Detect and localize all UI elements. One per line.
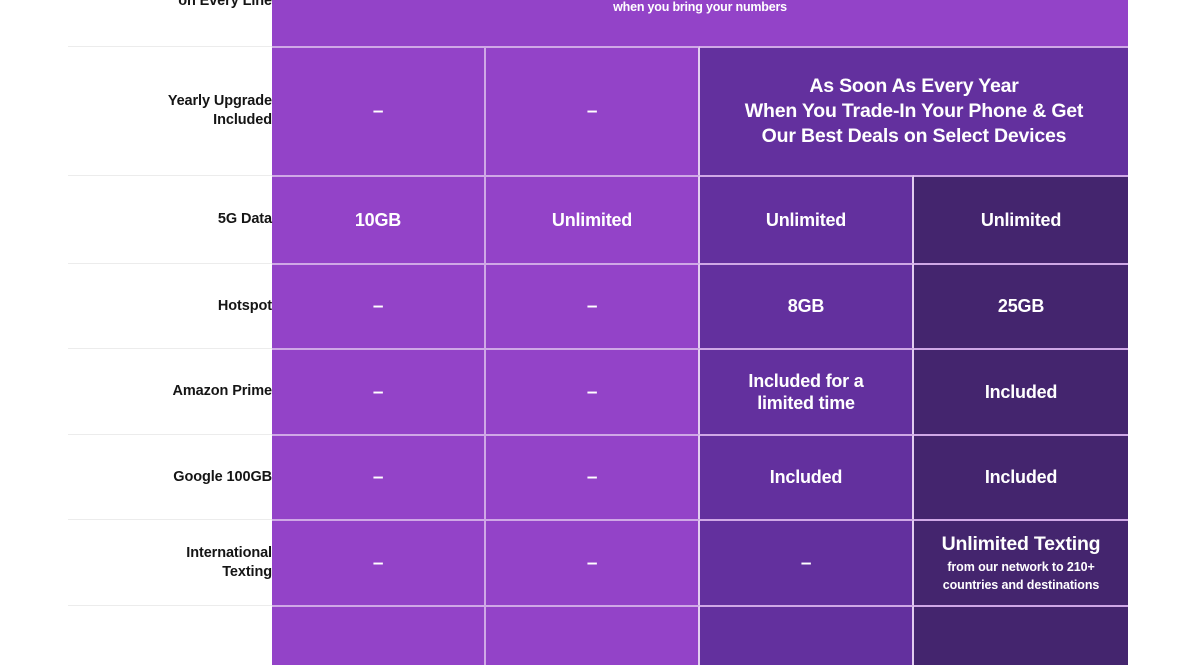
- cell-intl-texting-plan3: –: [700, 519, 914, 605]
- cell-intl-texting-plan1: –: [272, 519, 486, 605]
- table-row: [68, 605, 1128, 665]
- cell-google-plan2: –: [486, 434, 700, 519]
- cell-yearly-upgrade-plan2: –: [486, 46, 700, 175]
- cell-5g-data-plan2: Unlimited: [486, 175, 700, 263]
- table-row: Yearly Upgrade Included – – As Soon As E…: [68, 46, 1128, 175]
- cell-hotspot-plan2: –: [486, 263, 700, 348]
- cell-value-sub-line1: from our network to 210+: [914, 559, 1128, 575]
- cell-google-plan1: –: [272, 434, 486, 519]
- row-label-line2: on Every Line: [178, 0, 272, 9]
- cell-amazon-prime-plan3: Included for a limited time: [700, 348, 914, 434]
- row-label-amazon-prime: Amazon Prime: [68, 348, 272, 434]
- cell-amazon-prime-plan4: Included: [914, 348, 1128, 434]
- cell-value: –: [801, 554, 811, 573]
- comparison-sheet: Free 5G Phone on Every Line Included whe…: [0, 0, 1200, 628]
- cell-value: –: [373, 102, 383, 121]
- cell-hotspot-plan1: –: [272, 263, 486, 348]
- row-label-line2: Included: [213, 112, 272, 128]
- cell-value-sub: when you bring your numbers: [272, 0, 1128, 15]
- cell-value-main: Unlimited Texting: [942, 533, 1101, 555]
- cell-value: –: [373, 383, 383, 402]
- cell-value: –: [587, 102, 597, 121]
- cell-5g-data-plan3: Unlimited: [700, 175, 914, 263]
- cell-intl-texting-plan4: Unlimited Texting from our network to 21…: [914, 519, 1128, 605]
- row-label-yearly-upgrade: Yearly Upgrade Included: [68, 46, 272, 175]
- row-label-international-texting: International Texting: [68, 519, 272, 605]
- table-row: Google 100GB – – Included Included: [68, 434, 1128, 519]
- cell-cropped-plan4: [914, 605, 1128, 665]
- cell-value: –: [587, 297, 597, 316]
- cell-value-line1: As Soon As Every Year: [809, 75, 1018, 97]
- row-label-cropped: [68, 605, 272, 665]
- cell-amazon-prime-plan1: –: [272, 348, 486, 434]
- row-label-line1: International: [186, 545, 272, 561]
- table-row: Free 5G Phone on Every Line Included whe…: [68, 0, 1128, 46]
- cell-yearly-upgrade-plan1: –: [272, 46, 486, 175]
- cell-5g-data-plan4: Unlimited: [914, 175, 1128, 263]
- cell-yearly-upgrade-plan3-plan4: As Soon As Every Year When You Trade-In …: [700, 46, 1128, 175]
- cell-value: –: [373, 297, 383, 316]
- cell-5g-data-plan1: 10GB: [272, 175, 486, 263]
- cell-cropped-plan1: [272, 605, 486, 665]
- table-row: Amazon Prime – – Included for a limited …: [68, 348, 1128, 434]
- row-label-google-100gb: Google 100GB: [68, 434, 272, 519]
- cell-free-5g-phone-all-plans: Included when you bring your numbers: [272, 0, 1128, 46]
- cell-google-plan3: Included: [700, 434, 914, 519]
- cell-intl-texting-plan2: –: [486, 519, 700, 605]
- row-label-5g-data: 5G Data: [68, 175, 272, 263]
- cell-value-line2: When You Trade-In Your Phone & Get: [745, 100, 1083, 122]
- cell-google-plan4: Included: [914, 434, 1128, 519]
- table-row: Hotspot – – 8GB 25GB: [68, 263, 1128, 348]
- cell-value: –: [587, 468, 597, 487]
- cell-cropped-plan2: [486, 605, 700, 665]
- plan-comparison-table: Free 5G Phone on Every Line Included whe…: [68, 0, 1128, 665]
- table-row: International Texting – – – Unlimited Te…: [68, 519, 1128, 605]
- cell-value-line2: limited time: [757, 393, 855, 413]
- cell-value-sub-line2: countries and destinations: [914, 577, 1128, 593]
- row-label-hotspot: Hotspot: [68, 263, 272, 348]
- cell-value: –: [373, 468, 383, 487]
- cell-cropped-plan3: [700, 605, 914, 665]
- cell-value: –: [587, 383, 597, 402]
- cell-value-line1: Included for a: [748, 371, 863, 391]
- cell-value: –: [373, 554, 383, 573]
- cell-hotspot-plan3: 8GB: [700, 263, 914, 348]
- cell-hotspot-plan4: 25GB: [914, 263, 1128, 348]
- row-label-line2: Texting: [222, 564, 272, 580]
- row-label-line1: Yearly Upgrade: [168, 93, 272, 109]
- row-label-free-5g-phone: Free 5G Phone on Every Line: [68, 0, 272, 46]
- cell-value-line3: Our Best Deals on Select Devices: [762, 125, 1067, 147]
- cell-value: –: [587, 554, 597, 573]
- table-row: 5G Data 10GB Unlimited Unlimited Unlimit…: [68, 175, 1128, 263]
- cell-amazon-prime-plan2: –: [486, 348, 700, 434]
